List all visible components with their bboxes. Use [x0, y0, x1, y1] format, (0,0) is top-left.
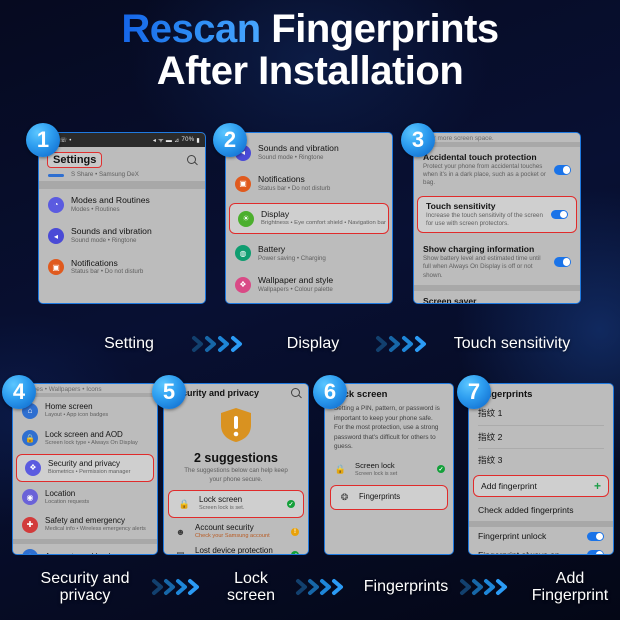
- battery-percent: 70%: [181, 137, 194, 143]
- list-item-sub: Power saving • Charging: [258, 255, 326, 263]
- location-icon: ◉: [22, 489, 38, 505]
- add-fingerprint-label: Add fingerprint: [481, 481, 537, 492]
- caption-row-1: Setting Display Touc: [0, 318, 620, 370]
- panel-1-settings[interactable]: ▤ ◎ ☏ • ◂ ᯤ ▬ ⊿ 70% ▮ Settings S Share •…: [38, 132, 206, 304]
- step-badge-3: 3: [401, 123, 435, 157]
- setting-title: Screen lock: [355, 461, 430, 470]
- list-item[interactable]: ◍ Battery Power saving • Charging: [226, 238, 392, 269]
- device-icon: ▤: [173, 548, 188, 555]
- list-item-title: Notifications: [71, 258, 143, 269]
- list-item-sub: Layout • App icon badges: [45, 412, 108, 420]
- add-fingerprint-button-highlighted[interactable]: Add fingerprint +: [473, 475, 609, 497]
- caption-display: Display: [258, 335, 368, 352]
- list-item[interactable]: ▣ Notifications Status bar • Do not dist…: [39, 252, 205, 283]
- list-item-title: Security and privacy: [48, 459, 130, 469]
- setting-title: Show charging information: [423, 244, 547, 255]
- setting-fingerprint-unlock[interactable]: Fingerprint unlock: [469, 527, 613, 546]
- status-ok-icon: ✓: [291, 551, 299, 555]
- list-item-security-privacy-highlighted[interactable]: ❖ Security and privacy Biometrics • Perm…: [16, 454, 154, 482]
- caption-security-and-privacy: Security and privacy: [26, 570, 144, 605]
- list-item-title: Accounts and backup: [45, 552, 122, 555]
- arrow-chevrons: [144, 577, 214, 597]
- setting-screen-saver[interactable]: Screen saver: [414, 291, 580, 304]
- setting-sub: Show battery level and estimated time un…: [423, 255, 547, 280]
- step-badge-4: 4: [2, 375, 36, 409]
- fingerprint-item[interactable]: 指纹 2: [469, 426, 613, 449]
- caption-touch-sensitivity: Touch sensitivity: [442, 335, 582, 352]
- title-line-2: After Installation: [0, 50, 620, 92]
- fingerprint-always-on-toggle[interactable]: [587, 550, 604, 555]
- step-badge-5: 5: [152, 375, 186, 409]
- section-gap: [39, 181, 205, 189]
- fingerprint-label: 指纹 1: [478, 408, 502, 419]
- security-shield-icon: ❖: [25, 460, 41, 476]
- show-charging-toggle[interactable]: [554, 257, 571, 267]
- list-item-sub: Medical info • Wireless emergency alerts: [45, 526, 146, 534]
- poster-root: Rescan Fingerprints After Installation 1…: [0, 0, 620, 620]
- status-bar-signal-icons: ◂ ᯤ ▬ ⊿: [153, 136, 180, 144]
- list-item-sub: Sound mode • Ringtone: [71, 237, 152, 245]
- arrow-chevrons: [368, 334, 442, 354]
- status-warning-icon: !: [291, 528, 299, 536]
- modes-routines-icon: ◔: [48, 197, 64, 213]
- cut-off-row-label: ...for more screen space.: [414, 133, 580, 142]
- suggestions-count: 2 suggestions: [172, 451, 300, 465]
- toggle-label: Fingerprint unlock: [478, 531, 580, 542]
- list-item[interactable]: ▣ Notifications Status bar • Do not dist…: [226, 168, 392, 199]
- panel-2-display[interactable]: ◂ Sounds and vibration Sound mode • Ring…: [225, 132, 393, 304]
- setting-title: Touch sensitivity: [426, 201, 544, 212]
- suggestion-sub: Check your Samsung account: [195, 533, 284, 541]
- settings-header: Settings: [39, 147, 205, 171]
- search-icon[interactable]: [291, 388, 301, 398]
- panel-4-security-privacy[interactable]: ...emes • Wallpapers • Icons ⌂ Home scre…: [12, 383, 158, 555]
- title-word-fingerprints: Fingerprints: [271, 7, 498, 51]
- poster-title: Rescan Fingerprints After Installation: [0, 8, 620, 92]
- check-added-fingerprints-item[interactable]: Check added fingerprints: [469, 500, 613, 521]
- list-item-sub: Modes • Routines: [71, 206, 150, 214]
- step-badge-6: 6: [313, 375, 347, 409]
- step-badge-2: 2: [213, 123, 247, 157]
- setting-sub: Increase the touch sensitivity of the sc…: [426, 212, 544, 229]
- list-item-sub: Status bar • Do not disturb: [71, 268, 143, 276]
- list-item-title: Safety and emergency: [45, 516, 146, 526]
- touch-sensitivity-toggle[interactable]: [551, 210, 568, 220]
- list-item[interactable]: ◉ Location Location requests: [13, 484, 157, 512]
- search-icon[interactable]: [187, 155, 197, 165]
- cut-off-row-label: S Share • Samsung DeX: [71, 171, 139, 179]
- list-item-title: Wallpaper and style: [258, 275, 333, 286]
- list-item-title: Battery: [258, 244, 326, 255]
- display-icon: ☀: [238, 211, 254, 227]
- arrow-chevrons: [184, 334, 258, 354]
- plus-icon[interactable]: +: [594, 480, 601, 492]
- list-item-title: Modes and Routines: [71, 195, 150, 206]
- caption-lock-screen: Lock screen: [214, 570, 288, 605]
- step-badge-1: 1: [26, 123, 60, 157]
- list-item-title: Lock screen and AOD: [45, 430, 138, 440]
- status-bar: ▤ ◎ ☏ • ◂ ᯤ ▬ ⊿ 70% ▮: [39, 133, 205, 147]
- caption-setting: Setting: [74, 335, 184, 352]
- panel-6-fingerprints-entry[interactable]: Lock screen Setting a PIN, pattern, or p…: [324, 383, 454, 555]
- cut-off-row: S Share • Samsung DeX: [39, 171, 205, 181]
- setting-fingerprint-always-on[interactable]: Fingerprint always on: [469, 546, 613, 555]
- setting-touch-sensitivity-highlighted[interactable]: Touch sensitivity Increase the touch sen…: [417, 196, 577, 233]
- suggestion-lost-device-protection[interactable]: ▤ Lost device protection This phone is a…: [164, 543, 308, 555]
- notifications-icon: ▣: [235, 176, 251, 192]
- arrow-chevrons: [288, 577, 358, 597]
- status-ok-icon: ✓: [437, 465, 445, 473]
- battery-icon: ◍: [235, 245, 251, 261]
- accounts-backup-icon: ◍: [22, 549, 38, 555]
- check-fingerprints-label: Check added fingerprints: [478, 505, 574, 516]
- lock-screen-description: Setting a PIN, pattern, or password is i…: [325, 401, 453, 458]
- sound-icon: ◂: [48, 228, 64, 244]
- list-item[interactable]: ❖ Wallpaper and style Wallpapers • Colou…: [226, 269, 392, 300]
- battery-icon: ▮: [196, 137, 200, 144]
- list-item-sub: Biometrics • Permission manager: [48, 469, 130, 477]
- setting-fingerprints-highlighted[interactable]: ❂ Fingerprints: [330, 485, 448, 510]
- list-item-sub: Status bar • Do not disturb: [258, 185, 330, 193]
- wallpaper-icon: ❖: [235, 277, 251, 293]
- title-accent-word: Rescan: [121, 7, 260, 51]
- panel-3-touch-sensitivity[interactable]: ...for more screen space. Accidental tou…: [413, 132, 581, 304]
- setting-title: Accidental touch protection: [423, 152, 547, 163]
- setting-title: Fingerprints: [359, 492, 400, 502]
- lock-icon: 🔒: [333, 462, 348, 477]
- list-item-title: Location: [45, 489, 89, 499]
- suggestions-sub: The suggestions below can help keep your…: [180, 467, 292, 484]
- setting-screen-lock[interactable]: 🔒 Screen lock Screen lock is set ✓: [325, 458, 453, 481]
- list-item[interactable]: ◂ Sounds and vibration Sound mode • Ring…: [226, 137, 392, 168]
- fingerprint-label: 指纹 3: [478, 455, 502, 466]
- suggestion-title: Lost device protection: [195, 546, 284, 555]
- panel-7-add-fingerprint[interactable]: Fingerprints 指纹 1 指纹 2 指纹 3 Add fingerpr…: [468, 383, 614, 555]
- list-item-title: Notifications: [258, 174, 330, 185]
- suggestion-lock-screen-highlighted[interactable]: 🔒 Lock screen Screen lock is set. ✓: [168, 490, 304, 518]
- panel-5-lock-screen-suggestion[interactable]: Security and privacy 2 suggestions The s…: [163, 383, 309, 555]
- suggestions-header: 2 suggestions The suggestions below can …: [164, 400, 308, 490]
- caption-row-2: Security and privacy Lock screen: [0, 562, 620, 612]
- step-badge-7: 7: [457, 375, 491, 409]
- settings-list: ◔ Modes and Routines Modes • Routines ◂ …: [39, 189, 205, 282]
- list-item-sub: Screen lock type • Always On Display: [45, 440, 138, 448]
- fingerprint-item[interactable]: 指纹 3: [469, 449, 613, 472]
- suggestion-account-security[interactable]: ☻ Account security Check your Samsung ac…: [164, 520, 308, 544]
- list-item-title: Display: [261, 209, 380, 220]
- fingerprint-item[interactable]: 指纹 1: [469, 402, 613, 425]
- list-item-sub: Brightness • Eye comfort shield • Naviga…: [261, 220, 380, 228]
- list-item-display-highlighted[interactable]: ☀ Display Brightness • Eye comfort shiel…: [229, 203, 389, 234]
- warning-shield-icon: [218, 406, 254, 444]
- list-item-title: Sounds and vibration: [71, 226, 152, 237]
- suggestion-sub: Screen lock is set.: [199, 505, 280, 513]
- lock-screen-icon: 🔒: [22, 430, 38, 446]
- safety-emergency-icon: ✚: [22, 517, 38, 533]
- notifications-icon: ▣: [48, 259, 64, 275]
- arrow-chevrons: [454, 577, 520, 597]
- accidental-touch-toggle[interactable]: [554, 165, 571, 175]
- suggestion-title: Lock screen: [199, 495, 280, 505]
- list-item[interactable]: ⌂ Home screen Layout • App icon badges: [13, 397, 157, 425]
- page-title: Settings: [47, 152, 102, 168]
- list-item[interactable]: ◂ Sounds and vibration Sound mode • Ring…: [39, 220, 205, 251]
- status-bar-right: ◂ ᯤ ▬ ⊿ 70% ▮: [153, 136, 200, 144]
- status-ok-icon: ✓: [287, 500, 295, 508]
- fingerprint-icon: ❂: [337, 490, 352, 505]
- partial-icon: [48, 174, 64, 177]
- toggle-label: Fingerprint always on: [478, 550, 580, 555]
- fingerprint-unlock-toggle[interactable]: [587, 532, 604, 542]
- fingerprint-label: 指纹 2: [478, 432, 502, 443]
- list-item-title: Sounds and vibration: [258, 143, 339, 154]
- list-item[interactable]: 🔒 Lock screen and AOD Screen lock type •…: [13, 425, 157, 453]
- setting-accidental-touch-protection[interactable]: Accidental touch protection Protect your…: [414, 147, 580, 193]
- setting-sub: Protect your phone from accidental touch…: [423, 163, 547, 188]
- setting-title: Screen saver: [423, 296, 477, 304]
- list-item-sub: Wallpapers • Colour palette: [258, 286, 333, 294]
- suggestion-title: Account security: [195, 523, 284, 533]
- account-icon: ☻: [173, 524, 188, 539]
- list-item[interactable]: ✚ Safety and emergency Medical info • Wi…: [13, 511, 157, 539]
- lock-icon: 🔒: [177, 497, 192, 512]
- caption-add-fingerprint: Add Fingerprint: [520, 570, 620, 605]
- setting-sub: Screen lock is set: [355, 471, 430, 478]
- list-item[interactable]: ◔ Modes and Routines Modes • Routines: [39, 189, 205, 220]
- list-item-title: Home screen: [45, 402, 108, 412]
- list-item-accounts-backup[interactable]: ◍ Accounts and backup: [13, 544, 157, 555]
- list-item-sub: Location requests: [45, 499, 89, 507]
- caption-fingerprints: Fingerprints: [358, 578, 454, 595]
- setting-show-charging-information[interactable]: Show charging information Show battery l…: [414, 239, 580, 285]
- list-item-sub: Sound mode • Ringtone: [258, 154, 339, 162]
